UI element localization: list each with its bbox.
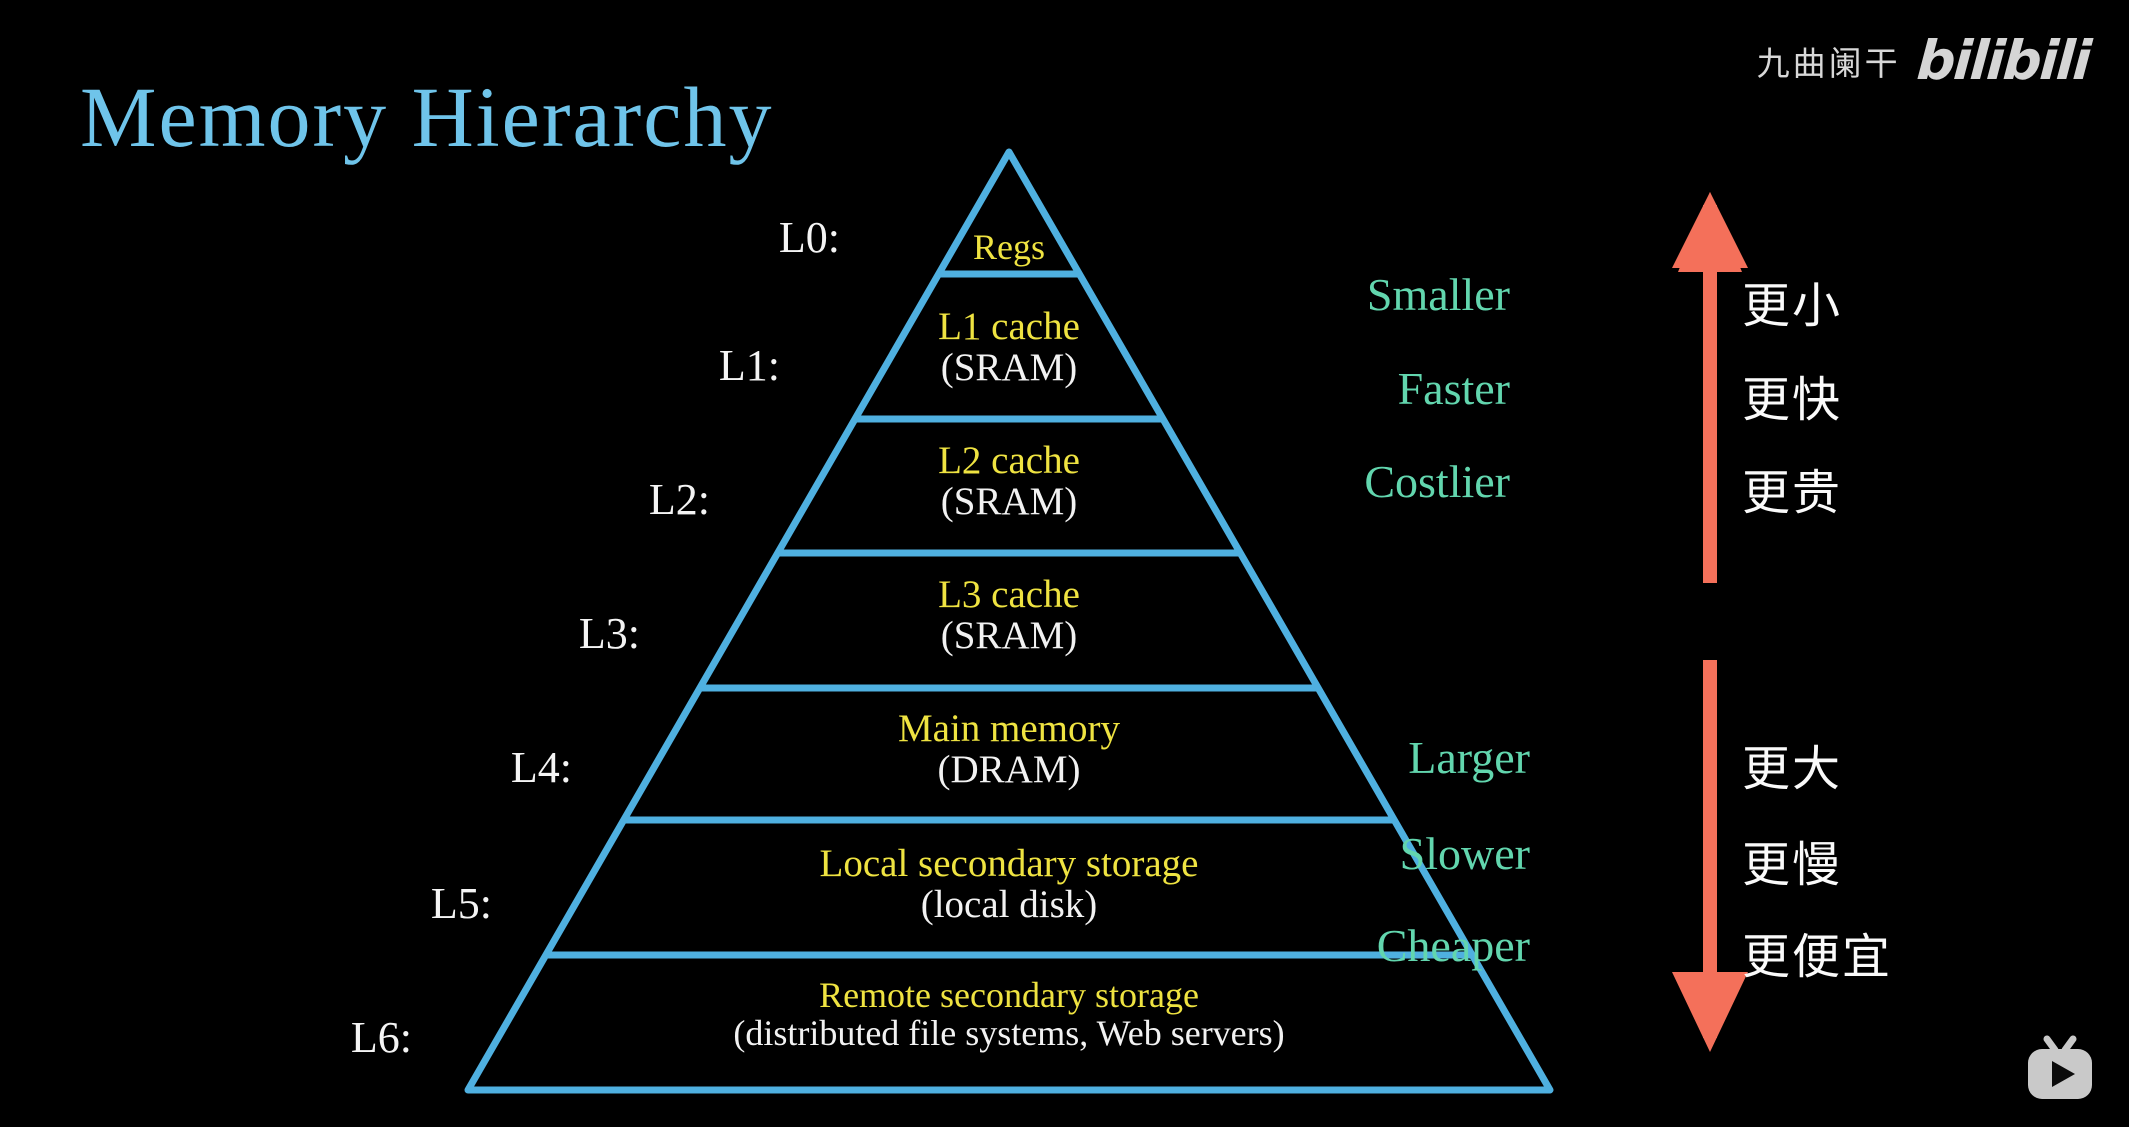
level-name-l3: L3 cache <box>629 574 1389 615</box>
tradeoff-down-en-2: Cheaper <box>1170 919 1530 972</box>
level-detail-l3: (SRAM) <box>629 615 1389 656</box>
channel-watermark: 九曲阑干 bilibili <box>1757 34 2089 88</box>
tier-label-l3: L3: <box>340 608 640 659</box>
tradeoff-down-en-1: Slower <box>1170 827 1530 880</box>
tradeoff-up-en-0: Smaller <box>1150 268 1510 321</box>
level-content-l3: L3 cache (SRAM) <box>629 574 1389 657</box>
level-detail-l6: (distributed file systems, Web servers) <box>629 1014 1389 1052</box>
channel-name-label: 九曲阑干 <box>1757 37 1901 85</box>
tradeoff-down-zh-2: 更便宜 <box>1742 917 1892 987</box>
level-name-l6: Remote secondary storage <box>629 976 1389 1014</box>
level-content-l0: Regs <box>629 228 1389 266</box>
bilibili-logo: bilibili <box>1915 34 2091 88</box>
tier-label-l6: L6: <box>112 1012 412 1063</box>
level-content-l6: Remote secondary storage (distributed fi… <box>629 976 1389 1052</box>
tradeoff-up-en-2: Costlier <box>1150 455 1510 508</box>
tier-label-l5: L5: <box>192 878 492 929</box>
tradeoff-up-zh-0: 更小 <box>1742 266 1842 336</box>
tradeoff-down-en-0: Larger <box>1170 731 1530 784</box>
bilibili-tv-play-icon <box>2021 1033 2099 1105</box>
slide-canvas: Memory Hierarchy 九曲阑干 bilibili L0: L1: L… <box>0 0 2129 1127</box>
arrow-up-icon <box>1672 192 1748 583</box>
level-name-l0: Regs <box>629 228 1389 266</box>
tradeoff-down-zh-1: 更慢 <box>1742 825 1842 895</box>
tier-label-l4: L4: <box>272 742 572 793</box>
tradeoff-down-zh-0: 更大 <box>1742 729 1842 799</box>
arrow-down-icon <box>1672 660 1748 1052</box>
tradeoff-up-en-1: Faster <box>1150 362 1510 415</box>
page-title: Memory Hierarchy <box>80 72 773 162</box>
tradeoff-up-zh-1: 更快 <box>1742 360 1842 430</box>
tradeoff-up-zh-2: 更贵 <box>1742 453 1842 523</box>
